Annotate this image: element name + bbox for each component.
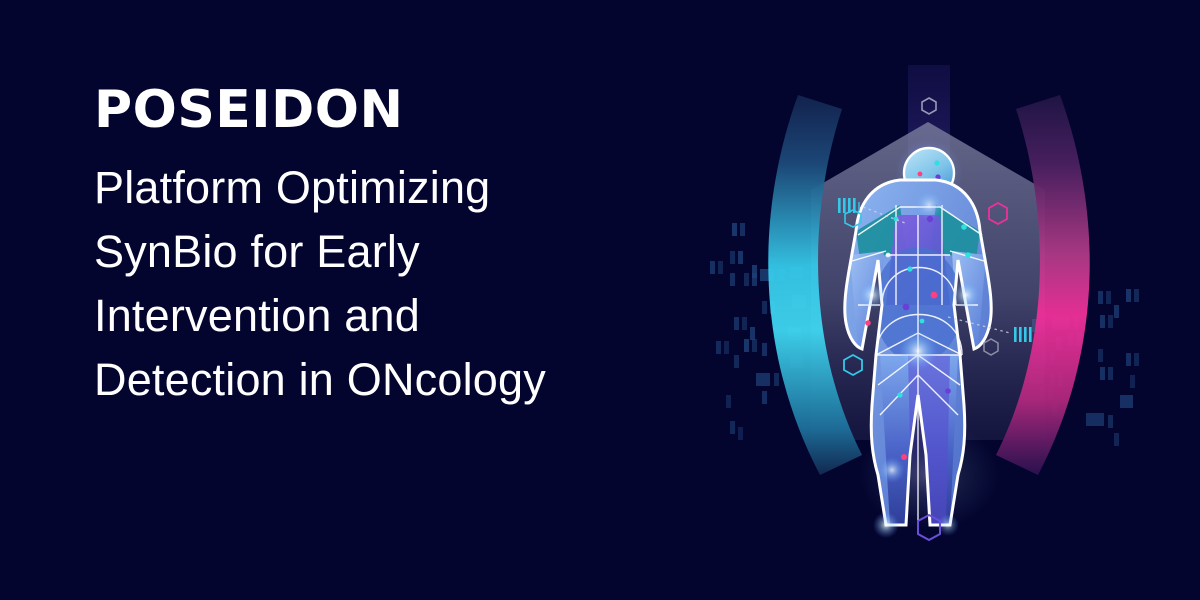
subtitle-line-4: Detection in ONcology <box>94 348 694 412</box>
page-subtitle: Platform Optimizing SynBio for Early Int… <box>94 156 694 412</box>
subtitle-line-2: SynBio for Early <box>94 220 694 284</box>
subtitle-line-1: Platform Optimizing <box>94 156 694 220</box>
human-body-biotech-illustration <box>700 55 1190 555</box>
text-block: POSEIDON Platform Optimizing SynBio for … <box>94 84 694 412</box>
subtitle-line-3: Intervention and <box>94 284 694 348</box>
page-title: POSEIDON <box>94 84 694 136</box>
poseidon-banner: POSEIDON Platform Optimizing SynBio for … <box>0 0 1200 600</box>
